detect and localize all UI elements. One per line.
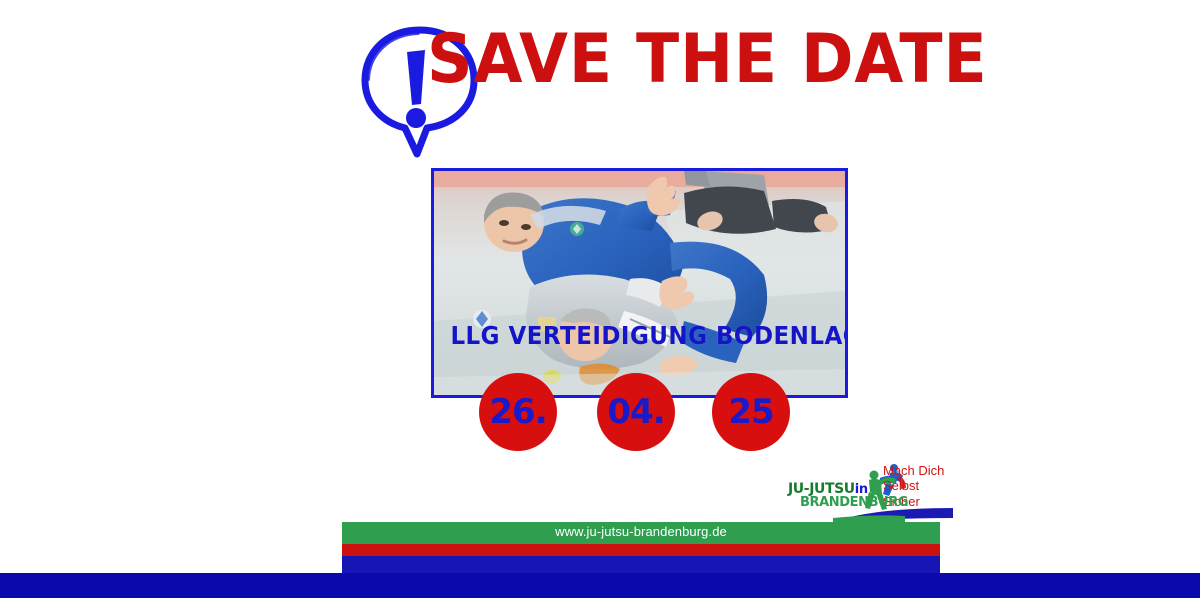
headline-row: SAVE THE DATE [355, 12, 895, 162]
logo-line-ju-jutsu: JU-JUTSUin [788, 482, 898, 496]
event-photo: LLG VERTEIDIGUNG BODENLAGE [431, 168, 848, 398]
logo-tagline-line1: Mach Dich [883, 463, 944, 478]
footer-green-bar: www.ju-jutsu-brandenburg.de [342, 522, 940, 544]
footer-website-url[interactable]: www.ju-jutsu-brandenburg.de [342, 524, 940, 539]
date-circle-month: 04. [597, 373, 675, 451]
photo-artwork [434, 171, 845, 395]
date-circle-day: 26. [479, 373, 557, 451]
date-circle-year: 25 [712, 373, 790, 451]
logo-wordmark: JU-JUTSUin BRANDENBURG [788, 482, 898, 510]
footer-blue-bar-bottom [0, 573, 1200, 598]
ju-jutsu-brandenburg-logo: Mach Dich Selbst Sicher JU-JUTSUin BRAND… [788, 462, 953, 524]
footer-red-bar [342, 544, 940, 556]
photo-caption: LLG VERTEIDIGUNG BODENLAGE [450, 321, 828, 350]
page-title: SAVE THE DATE [427, 26, 988, 94]
poster-canvas: SAVE THE DATE [0, 0, 1200, 598]
